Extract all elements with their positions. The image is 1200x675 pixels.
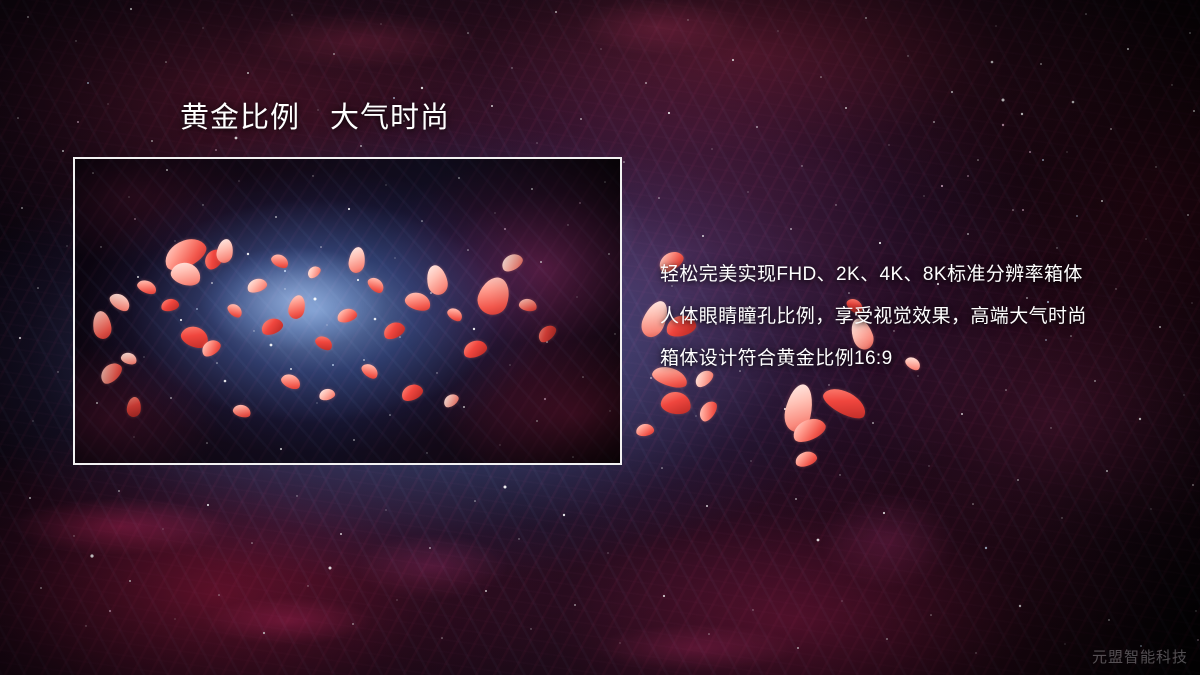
page-title: 黄金比例 大气时尚 bbox=[180, 103, 450, 133]
panel-vignette bbox=[75, 159, 620, 463]
body-copy: 轻松完美实现FHD、2K、4K、8K标准分辨率箱体 人体眼睛瞳孔比例，享受视觉效… bbox=[660, 254, 1180, 380]
presentation-slide: 黄金比例 大气时尚 轻松完美实现FHD、2K、4K、8K标准分辨率箱体 人体眼睛… bbox=[0, 0, 1200, 675]
video-preview-panel[interactable] bbox=[73, 157, 622, 465]
watermark: 元盟智能科技 bbox=[1092, 646, 1188, 667]
body-copy-line-3: 箱体设计符合黄金比例16:9 bbox=[660, 338, 1180, 380]
body-copy-line-2: 人体眼睛瞳孔比例，享受视觉效果，高端大气时尚 bbox=[660, 296, 1180, 338]
body-copy-line-1: 轻松完美实现FHD、2K、4K、8K标准分辨率箱体 bbox=[660, 254, 1180, 296]
